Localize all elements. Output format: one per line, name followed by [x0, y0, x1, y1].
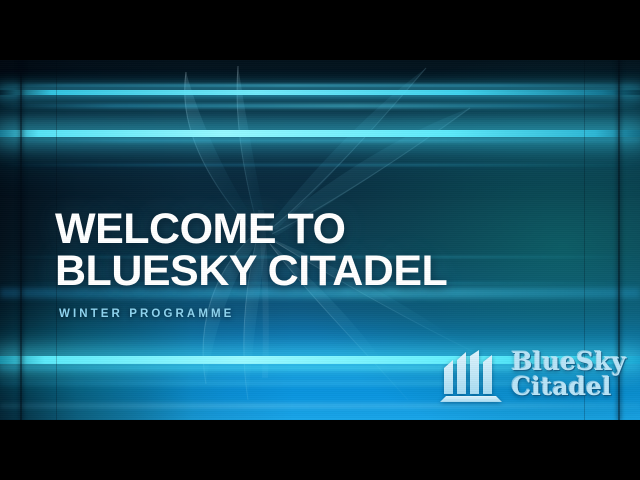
letterbox-bar-top — [0, 0, 640, 60]
video-picture-area: WELCOME TO BLUESKY CITADEL WINTER PROGRA… — [0, 60, 640, 420]
page-title: WELCOME TO BLUESKY CITADEL — [55, 208, 447, 292]
brand-wordmark: BlueSky Citadel — [511, 349, 626, 399]
title-block: WELCOME TO BLUESKY CITADEL WINTER PROGRA… — [55, 208, 447, 320]
brand-logo: BlueSky Citadel — [440, 346, 626, 402]
title-line-2: BLUESKY CITADEL — [55, 250, 447, 292]
subtitle: WINTER PROGRAMME — [59, 308, 447, 320]
title-line-1: WELCOME TO — [55, 205, 345, 253]
citadel-columns-icon — [440, 346, 502, 402]
video-frame-screenshot: WELCOME TO BLUESKY CITADEL WINTER PROGRA… — [0, 0, 640, 480]
brand-word-2: Citadel — [511, 374, 626, 399]
letterbox-bar-bottom — [0, 420, 640, 480]
